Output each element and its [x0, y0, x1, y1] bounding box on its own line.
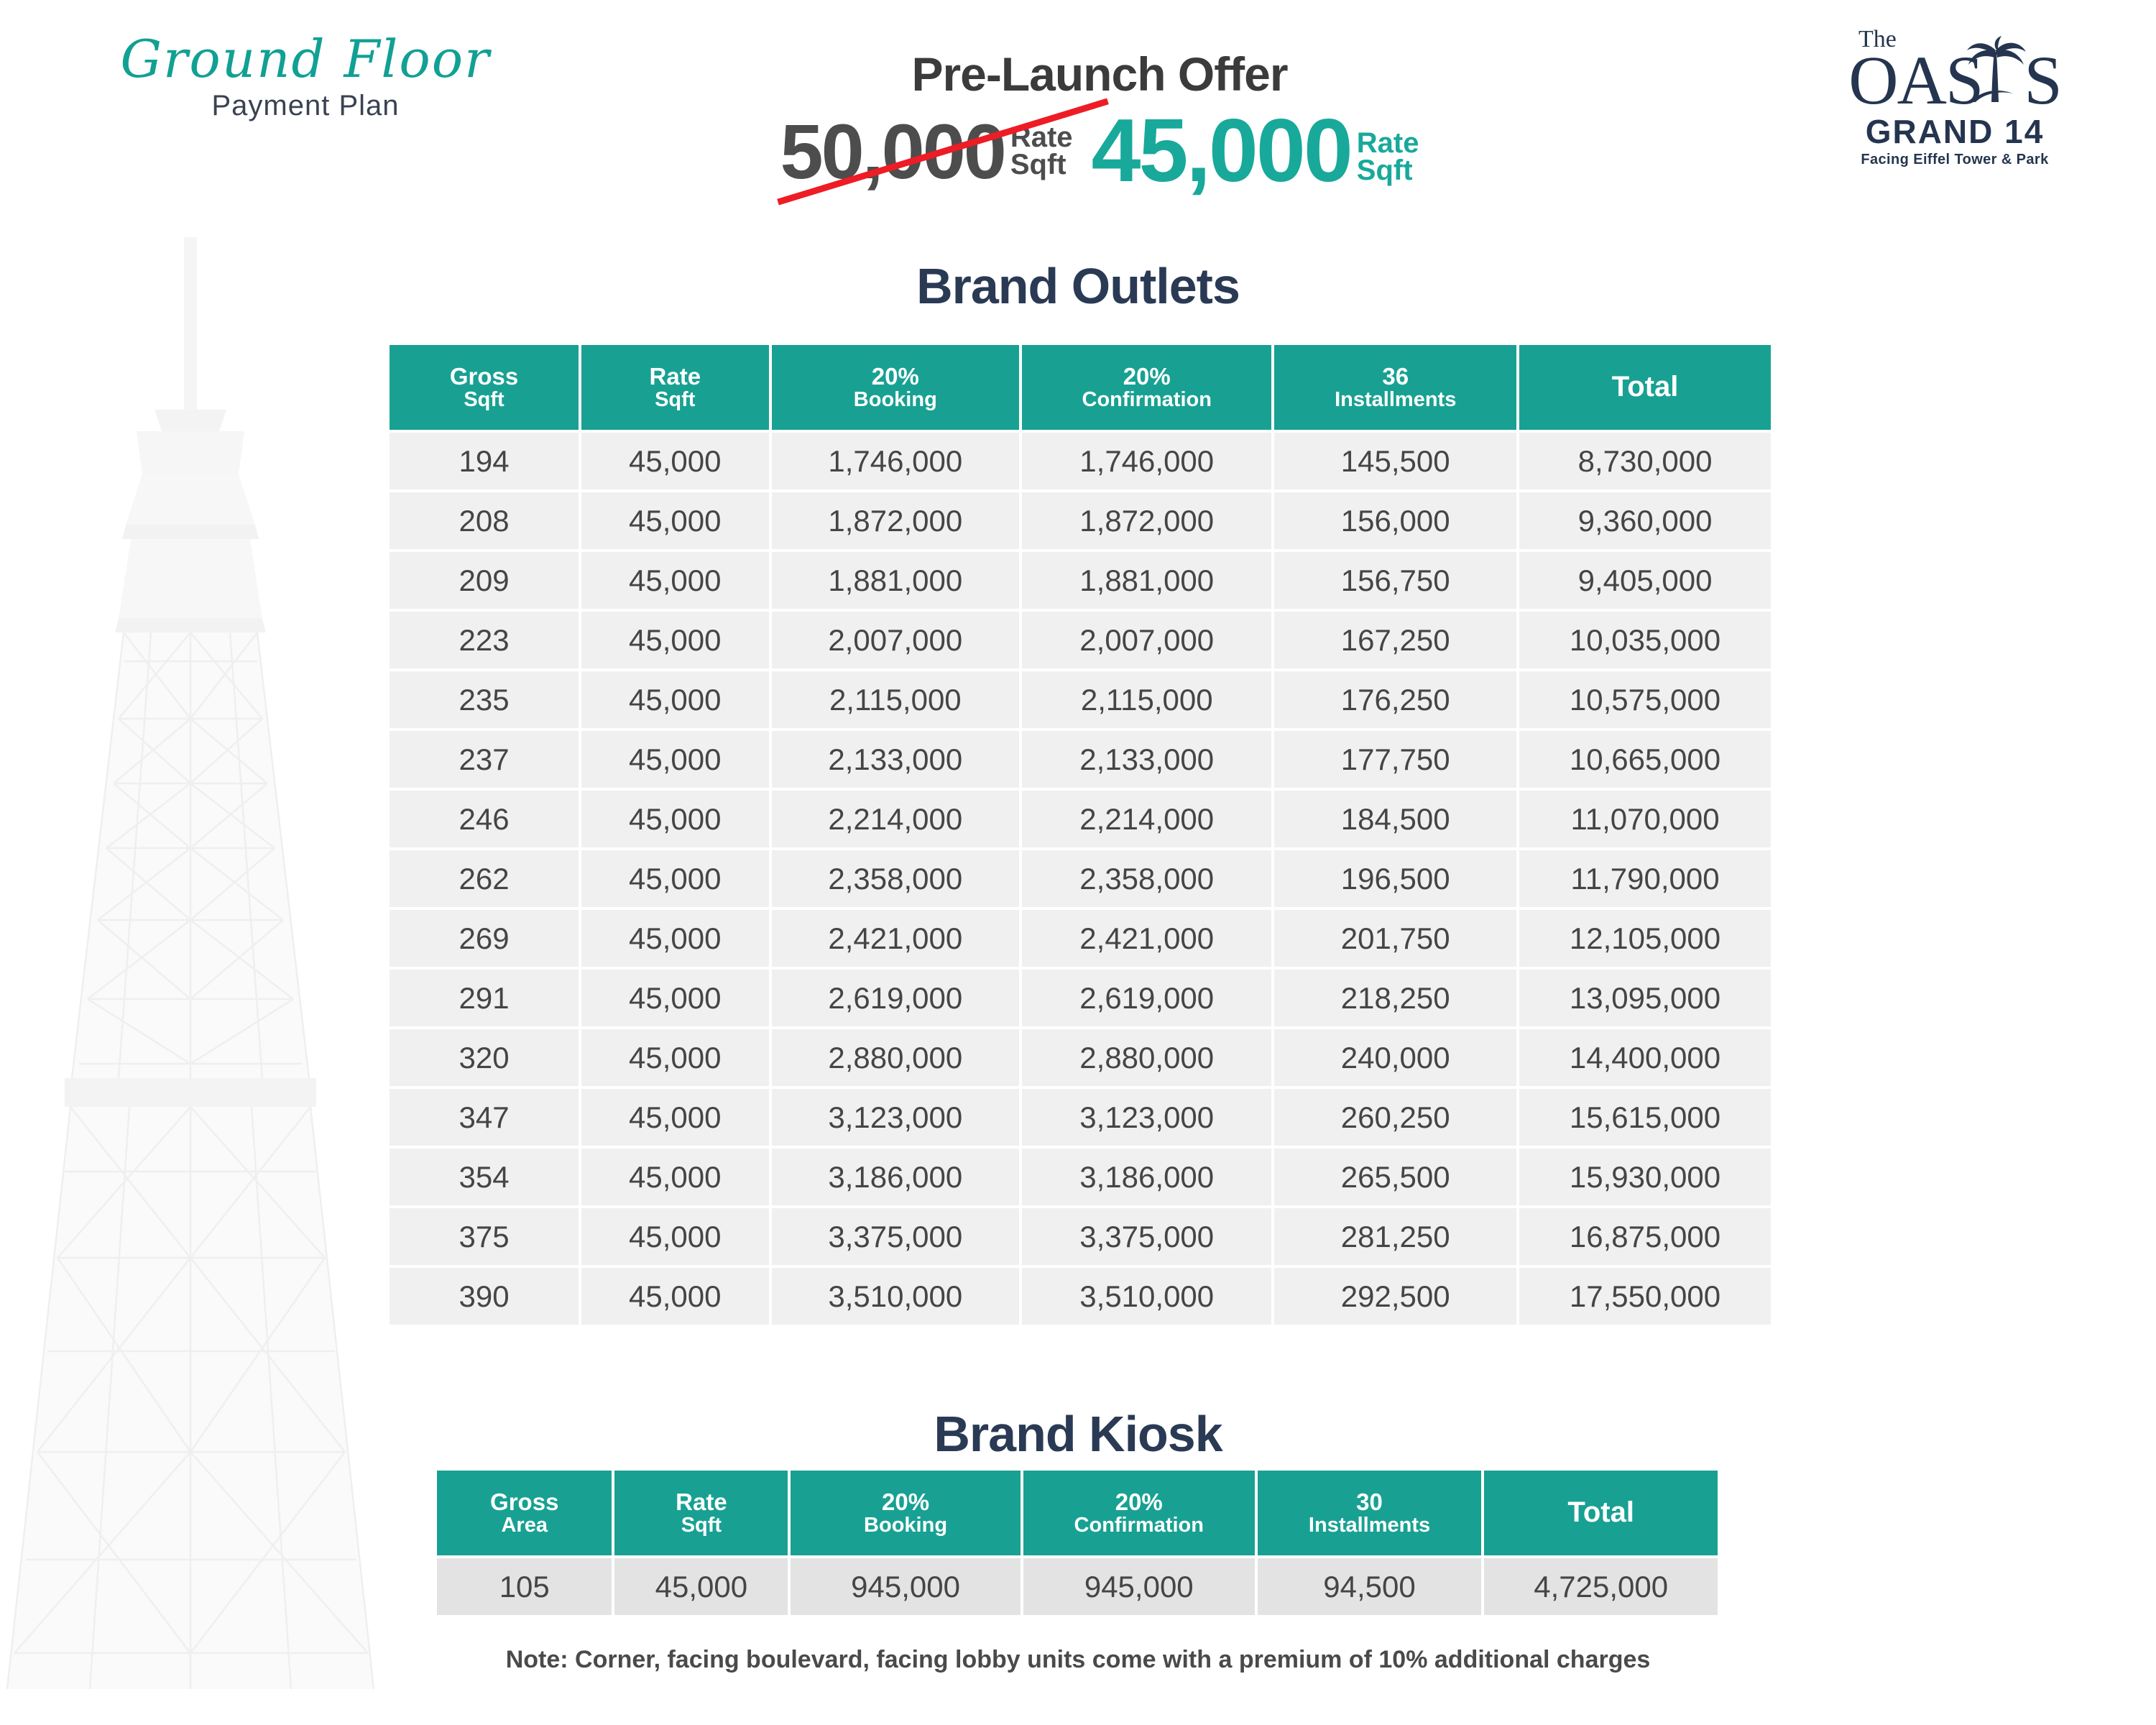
floor-subtitle: Payment Plan: [75, 90, 535, 122]
table-cell: 1,746,000: [1022, 433, 1271, 489]
eiffel-tower-watermark: [0, 216, 417, 1725]
table-cell: 45,000: [581, 791, 768, 847]
table-cell: 3,123,000: [1022, 1089, 1271, 1146]
table-cell: 3,123,000: [772, 1089, 1020, 1146]
table-row: 35445,0003,186,0003,186,000265,50015,930…: [390, 1149, 1771, 1205]
table-row: 39045,0003,510,0003,510,000292,50017,550…: [390, 1268, 1771, 1325]
new-rate-value: 45,000: [1092, 109, 1351, 194]
table-cell: 2,880,000: [1022, 1029, 1271, 1086]
table-cell: 945,000: [1023, 1558, 1255, 1615]
outlets-col-total: Total: [1519, 345, 1771, 430]
table-cell: 1,881,000: [772, 552, 1020, 609]
table-cell: 240,000: [1274, 1029, 1516, 1086]
table-cell: 105: [437, 1558, 612, 1615]
table-cell: 1,872,000: [1022, 492, 1271, 549]
footer-note: Note: Corner, facing boulevard, facing l…: [0, 1646, 2156, 1674]
outlets-col-confirmation: 20% Confirmation: [1022, 345, 1271, 430]
outlets-table-body: 19445,0001,746,0001,746,000145,5008,730,…: [390, 433, 1771, 1325]
table-row: 37545,0003,375,0003,375,000281,25016,875…: [390, 1208, 1771, 1265]
table-cell: 3,375,000: [772, 1208, 1020, 1265]
table-cell: 262: [390, 850, 579, 907]
table-cell: 3,186,000: [1022, 1149, 1271, 1205]
table-cell: 45,000: [581, 1149, 768, 1205]
offer-block: Pre-Launch Offer 50,000 Rate Sqft 45,000…: [632, 50, 1567, 194]
table-cell: 2,115,000: [772, 671, 1020, 728]
offer-rates: 50,000 Rate Sqft 45,000 Rate Sqft: [632, 109, 1567, 194]
table-cell: 945,000: [791, 1558, 1020, 1615]
table-cell: 177,750: [1274, 731, 1516, 788]
table-cell: 45,000: [581, 433, 768, 489]
outlets-col-installments: 36 Installments: [1274, 345, 1516, 430]
outlets-table-head: Gross Sqft Rate Sqft 20% Booking 20% Con…: [390, 345, 1771, 430]
kiosk-col-confirmation: 20% Confirmation: [1023, 1471, 1255, 1555]
table-cell: 94,500: [1258, 1558, 1482, 1615]
old-rate-value: 50,000: [780, 115, 1005, 189]
table-cell: 12,105,000: [1519, 910, 1771, 967]
kiosk-col-gross-area: Gross Area: [437, 1471, 612, 1555]
table-cell: 3,510,000: [1022, 1268, 1271, 1325]
brand-outlets-title: Brand Outlets: [0, 257, 2156, 315]
table-cell: 2,115,000: [1022, 671, 1271, 728]
table-row: 22345,0002,007,0002,007,000167,25010,035…: [390, 612, 1771, 668]
old-rate-unit-line2: Sqft: [1010, 149, 1067, 180]
old-rate-unit: Rate Sqft: [1010, 124, 1073, 188]
kiosk-col-booking: 20% Booking: [791, 1471, 1020, 1555]
table-cell: 17,550,000: [1519, 1268, 1771, 1325]
kiosk-header-row: Gross Area Rate Sqft 20% Booking 20% Con…: [437, 1471, 1718, 1555]
table-cell: 145,500: [1274, 433, 1516, 489]
table-cell: 292,500: [1274, 1268, 1516, 1325]
table-row: 20945,0001,881,0001,881,000156,7509,405,…: [390, 552, 1771, 609]
table-cell: 218,250: [1274, 970, 1516, 1026]
table-cell: 9,405,000: [1519, 552, 1771, 609]
new-rate-unit: Rate Sqft: [1357, 129, 1419, 194]
table-cell: 320: [390, 1029, 579, 1086]
brand-kiosk-title: Brand Kiosk: [0, 1405, 2156, 1463]
table-cell: 10,665,000: [1519, 731, 1771, 788]
table-cell: 3,375,000: [1022, 1208, 1271, 1265]
kiosk-col-installments: 30 Installments: [1258, 1471, 1482, 1555]
table-cell: 2,880,000: [772, 1029, 1020, 1086]
table-cell: 2,358,000: [772, 850, 1020, 907]
table-row: 20845,0001,872,0001,872,000156,0009,360,…: [390, 492, 1771, 549]
table-cell: 15,615,000: [1519, 1089, 1771, 1146]
floor-title: Ground Floor: [75, 32, 535, 87]
logo-grand-text: GRAND 14: [1825, 114, 2084, 150]
new-rate-unit-line2: Sqft: [1357, 155, 1413, 186]
table-cell: 45,000: [614, 1558, 788, 1615]
table-cell: 194: [390, 433, 579, 489]
table-cell: 13,095,000: [1519, 970, 1771, 1026]
table-cell: 2,214,000: [772, 791, 1020, 847]
outlets-col-gross-sqft: Gross Sqft: [390, 345, 579, 430]
table-cell: 45,000: [581, 671, 768, 728]
table-cell: 10,035,000: [1519, 612, 1771, 668]
table-cell: 45,000: [581, 970, 768, 1026]
table-cell: 347: [390, 1089, 579, 1146]
table-cell: 16,875,000: [1519, 1208, 1771, 1265]
table-cell: 2,007,000: [772, 612, 1020, 668]
table-row: 26945,0002,421,0002,421,000201,75012,105…: [390, 910, 1771, 967]
logo-tagline: Facing Eiffel Tower & Park: [1825, 152, 2084, 168]
table-cell: 2,619,000: [1022, 970, 1271, 1026]
palm-tree-icon: [1964, 36, 2027, 105]
table-cell: 390: [390, 1268, 579, 1325]
table-cell: 201,750: [1274, 910, 1516, 967]
table-cell: 246: [390, 791, 579, 847]
table-cell: 3,186,000: [772, 1149, 1020, 1205]
table-cell: 2,421,000: [772, 910, 1020, 967]
table-cell: 45,000: [581, 850, 768, 907]
table-row: 10545,000945,000945,00094,5004,725,000: [437, 1558, 1718, 1615]
table-cell: 45,000: [581, 552, 768, 609]
floor-title-block: Ground Floor Payment Plan: [75, 32, 535, 122]
table-cell: 2,358,000: [1022, 850, 1271, 907]
table-row: 32045,0002,880,0002,880,000240,00014,400…: [390, 1029, 1771, 1086]
table-row: 24645,0002,214,0002,214,000184,50011,070…: [390, 791, 1771, 847]
table-cell: 1,872,000: [772, 492, 1020, 549]
table-cell: 209: [390, 552, 579, 609]
table-cell: 156,000: [1274, 492, 1516, 549]
table-cell: 45,000: [581, 1089, 768, 1146]
table-cell: 375: [390, 1208, 579, 1265]
table-cell: 45,000: [581, 492, 768, 549]
table-cell: 45,000: [581, 612, 768, 668]
table-cell: 223: [390, 612, 579, 668]
table-row: 29145,0002,619,0002,619,000218,25013,095…: [390, 970, 1771, 1026]
logo-oasis-left: OAS: [1848, 42, 1982, 119]
table-cell: 10,575,000: [1519, 671, 1771, 728]
kiosk-table-head: Gross Area Rate Sqft 20% Booking 20% Con…: [437, 1471, 1718, 1555]
table-cell: 8,730,000: [1519, 433, 1771, 489]
kiosk-col-rate-sqft: Rate Sqft: [614, 1471, 788, 1555]
table-row: 19445,0001,746,0001,746,000145,5008,730,…: [390, 433, 1771, 489]
logo-oasis-row: OASS: [1825, 47, 2084, 114]
table-cell: 269: [390, 910, 579, 967]
kiosk-col-total: Total: [1484, 1471, 1718, 1555]
table-cell: 354: [390, 1149, 579, 1205]
table-cell: 2,619,000: [772, 970, 1020, 1026]
table-cell: 235: [390, 671, 579, 728]
table-cell: 184,500: [1274, 791, 1516, 847]
new-rate-group: 45,000 Rate Sqft: [1092, 109, 1419, 194]
table-cell: 9,360,000: [1519, 492, 1771, 549]
payment-plan-page: Ground Floor Payment Plan Pre-Launch Off…: [0, 0, 2156, 1725]
table-cell: 237: [390, 731, 579, 788]
table-cell: 45,000: [581, 1029, 768, 1086]
table-cell: 4,725,000: [1484, 1558, 1718, 1615]
table-cell: 291: [390, 970, 579, 1026]
table-cell: 1,881,000: [1022, 552, 1271, 609]
table-cell: 156,750: [1274, 552, 1516, 609]
table-row: 34745,0003,123,0003,123,000260,25015,615…: [390, 1089, 1771, 1146]
table-cell: 2,421,000: [1022, 910, 1271, 967]
old-rate-group: 50,000 Rate Sqft: [780, 115, 1073, 189]
table-cell: 196,500: [1274, 850, 1516, 907]
table-cell: 2,133,000: [1022, 731, 1271, 788]
table-cell: 265,500: [1274, 1149, 1516, 1205]
outlets-header-row: Gross Sqft Rate Sqft 20% Booking 20% Con…: [390, 345, 1771, 430]
table-cell: 3,510,000: [772, 1268, 1020, 1325]
table-cell: 167,250: [1274, 612, 1516, 668]
table-cell: 2,007,000: [1022, 612, 1271, 668]
outlets-col-booking: 20% Booking: [772, 345, 1020, 430]
table-row: 26245,0002,358,0002,358,000196,50011,790…: [390, 850, 1771, 907]
table-cell: 45,000: [581, 1268, 768, 1325]
table-cell: 176,250: [1274, 671, 1516, 728]
brand-outlets-table: Gross Sqft Rate Sqft 20% Booking 20% Con…: [387, 342, 1774, 1328]
brand-logo: The OASS GRAND 14 Facing Eiffel: [1825, 27, 2084, 168]
kiosk-table-body: 10545,000945,000945,00094,5004,725,000: [437, 1558, 1718, 1615]
table-cell: 45,000: [581, 910, 768, 967]
outlets-col-rate-sqft: Rate Sqft: [581, 345, 768, 430]
logo-oasis-right: S: [2024, 42, 2060, 119]
table-cell: 1,746,000: [772, 433, 1020, 489]
table-row: 23545,0002,115,0002,115,000176,25010,575…: [390, 671, 1771, 728]
brand-kiosk-table: Gross Area Rate Sqft 20% Booking 20% Con…: [434, 1468, 1720, 1618]
table-cell: 45,000: [581, 731, 768, 788]
table-cell: 45,000: [581, 1208, 768, 1265]
table-row: 23745,0002,133,0002,133,000177,75010,665…: [390, 731, 1771, 788]
table-cell: 281,250: [1274, 1208, 1516, 1265]
table-cell: 11,790,000: [1519, 850, 1771, 907]
offer-heading: Pre-Launch Offer: [632, 50, 1567, 98]
table-cell: 260,250: [1274, 1089, 1516, 1146]
table-cell: 11,070,000: [1519, 791, 1771, 847]
table-cell: 2,133,000: [772, 731, 1020, 788]
table-cell: 15,930,000: [1519, 1149, 1771, 1205]
table-cell: 2,214,000: [1022, 791, 1271, 847]
table-cell: 14,400,000: [1519, 1029, 1771, 1086]
table-cell: 208: [390, 492, 579, 549]
